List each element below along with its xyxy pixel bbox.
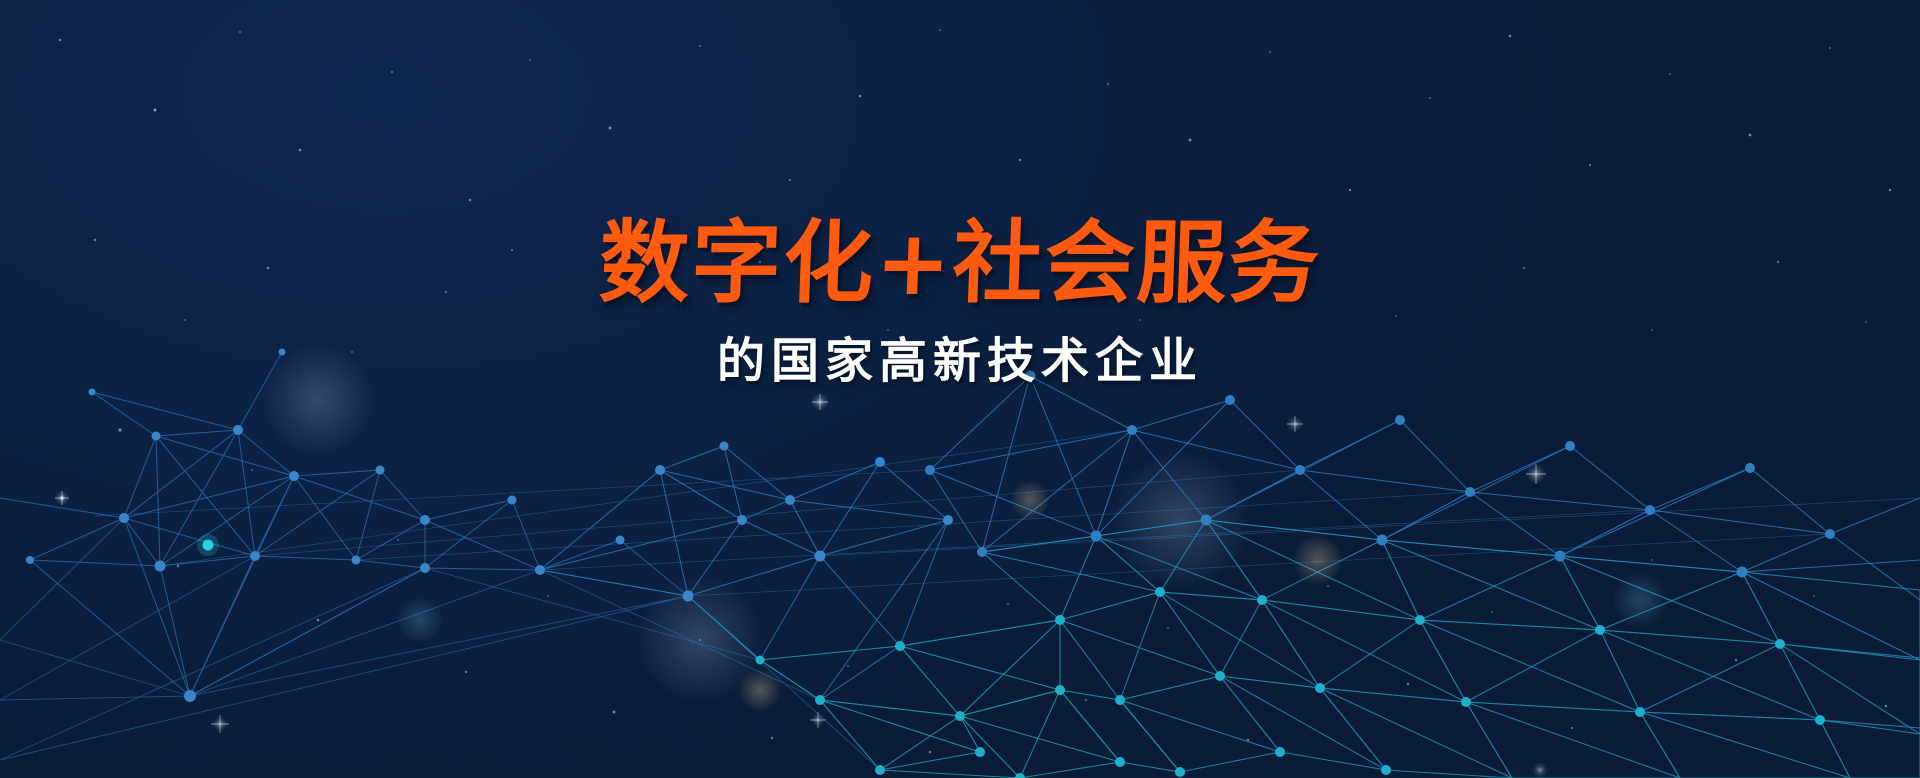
hero-banner: 数字化+社会服务 的国家高新技术企业 [0,0,1920,778]
page-title: 数字化+社会服务 [0,212,1920,316]
hero-text-block: 数字化+社会服务 的国家高新技术企业 [0,212,1920,392]
page-subtitle: 的国家高新技术企业 [0,330,1920,392]
